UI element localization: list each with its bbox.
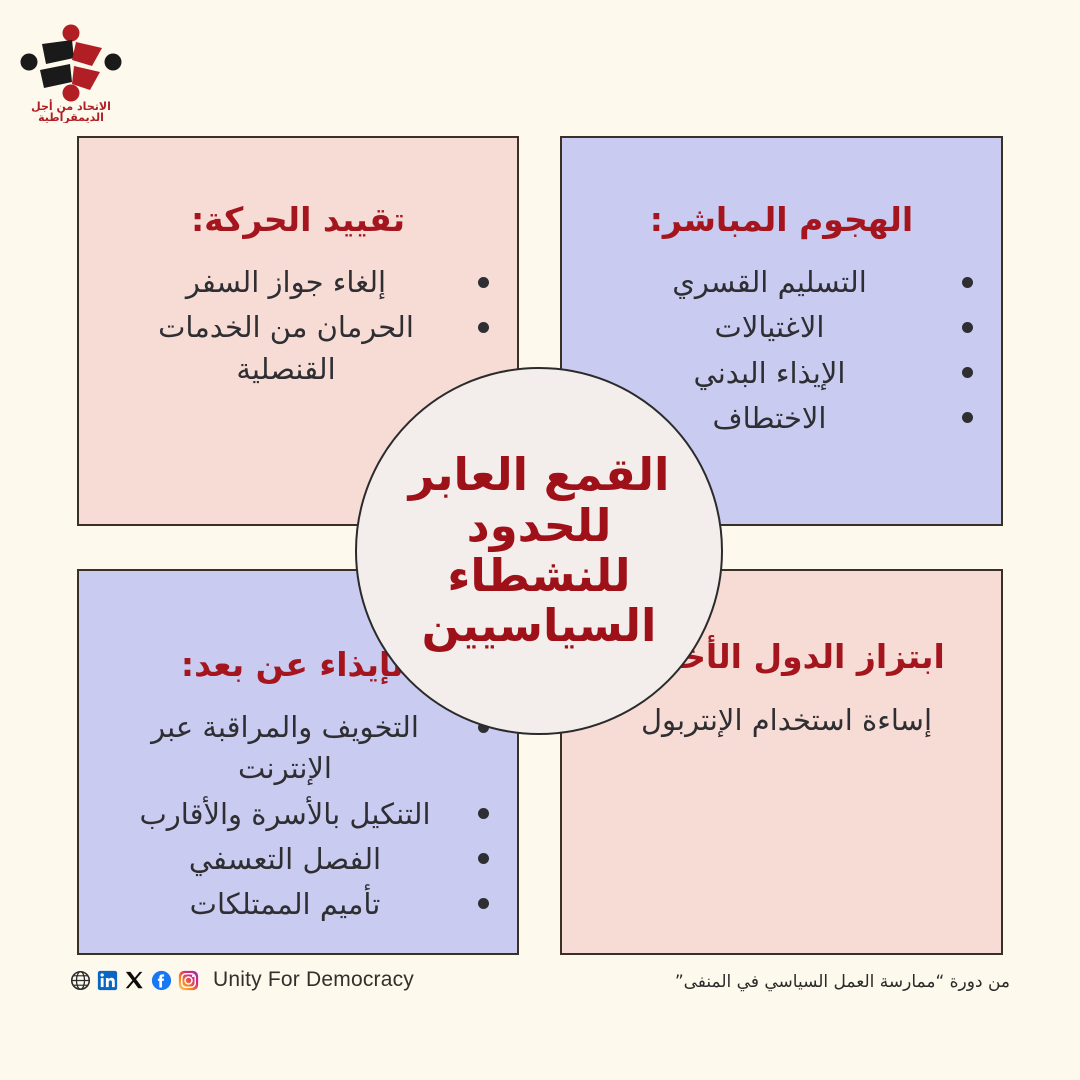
list-item-label: التخويف والمراقبة عبر الإنترنت bbox=[151, 710, 419, 785]
organization-logo: الاتحاد من أجل الديمقراطية bbox=[16, 18, 126, 123]
list-item-label: الاختطاف bbox=[713, 401, 827, 435]
list-item-label: الحرمان من الخدمات القنصلية bbox=[158, 310, 414, 385]
list-item: الاغتيالات bbox=[594, 307, 975, 348]
panel-title: الهجوم المباشر: bbox=[588, 200, 975, 240]
panel-bullet-list: التخويف والمراقبة عبر الإنترنت التنكيل ب… bbox=[105, 707, 491, 925]
list-item-label: الاغتيالات bbox=[715, 310, 825, 344]
list-item: الحرمان من الخدمات القنصلية bbox=[111, 307, 491, 389]
footer-social-group: Unity For Democracy bbox=[70, 968, 414, 992]
brand-name: Unity For Democracy bbox=[213, 968, 414, 992]
bullet-dot-icon bbox=[478, 808, 489, 819]
list-item-label: الفصل التعسفي bbox=[189, 842, 381, 876]
list-item: تأميم الممتلكات bbox=[109, 884, 491, 925]
x-twitter-icon[interactable] bbox=[124, 970, 145, 991]
list-item: الفصل التعسفي bbox=[109, 839, 491, 880]
instagram-icon[interactable] bbox=[178, 970, 199, 991]
list-item: إلغاء جواز السفر bbox=[111, 262, 491, 303]
center-topic-circle: القمع العابر للحدود للنشطاء السياسيين bbox=[355, 367, 723, 735]
source-note: من دورة “ممارسة العمل السياسي في المنفى” bbox=[675, 972, 1010, 992]
list-item-label: التنكيل بالأسرة والأقارب bbox=[139, 797, 430, 831]
center-title: القمع العابر للحدود للنشطاء السياسيين bbox=[357, 450, 721, 652]
bullet-dot-icon bbox=[962, 367, 973, 378]
infographic-canvas: الاتحاد من أجل الديمقراطية تقييد الحركة:… bbox=[0, 0, 1080, 1080]
list-item: التسليم القسري bbox=[594, 262, 975, 303]
list-item: الإيذاء البدني bbox=[594, 353, 975, 394]
list-item: التخويف والمراقبة عبر الإنترنت bbox=[109, 707, 491, 789]
list-item-label: التسليم القسري bbox=[672, 265, 867, 299]
panel-body-text: إساءة استخدام الإنتربول bbox=[588, 699, 975, 741]
bullet-dot-icon bbox=[478, 277, 489, 288]
list-item-label: تأميم الممتلكات bbox=[190, 887, 381, 921]
logo-line-2: الديمقراطية bbox=[38, 111, 104, 123]
facebook-icon[interactable] bbox=[151, 970, 172, 991]
list-item: التنكيل بالأسرة والأقارب bbox=[109, 794, 491, 835]
linkedin-icon[interactable] bbox=[97, 970, 118, 991]
bullet-dot-icon bbox=[478, 898, 489, 909]
panel-bullet-list: إلغاء جواز السفر الحرمان من الخدمات القن… bbox=[105, 262, 491, 390]
bullet-dot-icon bbox=[478, 322, 489, 333]
bullet-dot-icon bbox=[478, 853, 489, 864]
bullet-dot-icon bbox=[962, 277, 973, 288]
bullet-dot-icon bbox=[962, 412, 973, 423]
list-item-label: الإيذاء البدني bbox=[694, 356, 846, 390]
panel-title: تقييد الحركة: bbox=[105, 200, 491, 240]
bullet-dot-icon bbox=[962, 322, 973, 333]
list-item-label: إلغاء جواز السفر bbox=[186, 265, 386, 299]
footer: Unity For Democracy من دورة “ممارسة العم… bbox=[0, 968, 1080, 1018]
globe-icon[interactable] bbox=[70, 970, 91, 991]
